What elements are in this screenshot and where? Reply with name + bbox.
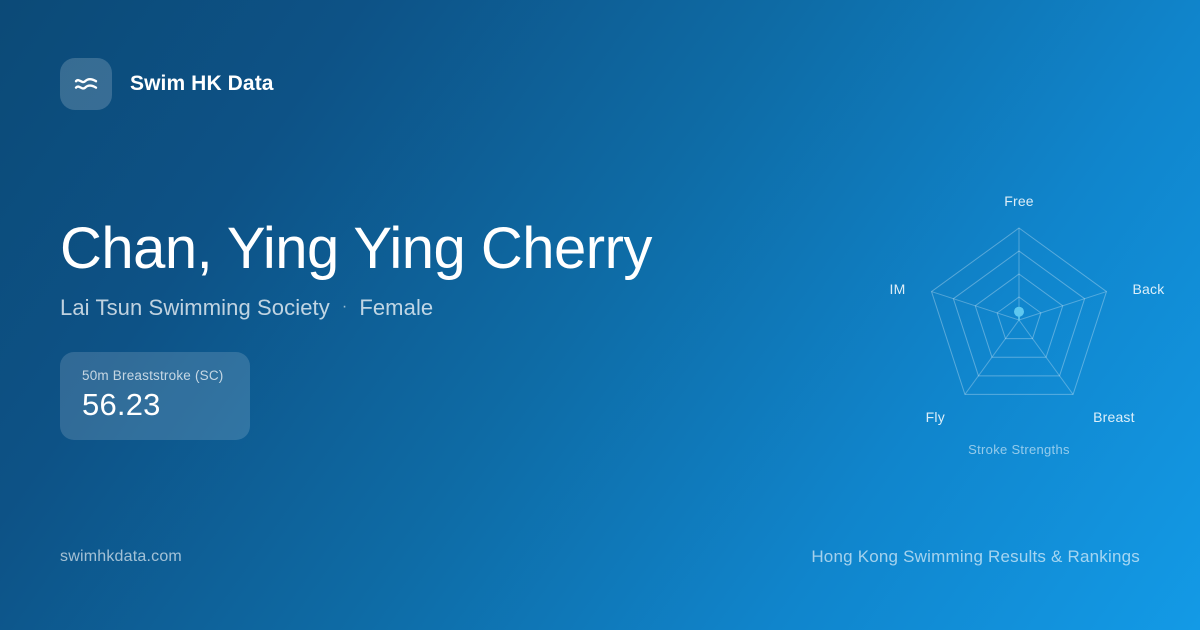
radar-axis-label-fly: Fly [926, 409, 945, 425]
radar-chart-caption: Stroke Strengths [869, 442, 1169, 457]
gender-label: Female [359, 295, 433, 321]
stat-card-label: 50m Breaststroke (SC) [82, 368, 228, 383]
radar-axis-label-breast: Breast [1093, 409, 1135, 425]
brand[interactable]: Swim HK Data [60, 58, 274, 110]
radar-data-point [1014, 307, 1024, 317]
radar-axis-label-free: Free [1004, 193, 1034, 209]
hero-subtitle: Lai Tsun Swimming Society · Female [60, 295, 820, 321]
stat-card[interactable]: 50m Breaststroke (SC) 56.23 [60, 352, 250, 440]
club-name: Lai Tsun Swimming Society [60, 295, 330, 321]
footer-site-url[interactable]: swimhkdata.com [60, 548, 182, 566]
stat-card-value: 56.23 [82, 389, 228, 422]
subtitle-separator: · [342, 298, 347, 316]
footer-tagline: Hong Kong Swimming Results & Rankings [811, 547, 1140, 567]
brand-name: Swim HK Data [130, 72, 274, 96]
app-logo [60, 58, 112, 110]
radar-axis-spoke [932, 292, 1020, 320]
hero-block: Chan, Ying Ying Cherry Lai Tsun Swimming… [60, 218, 820, 321]
page-title: Chan, Ying Ying Cherry [60, 218, 820, 281]
stroke-strengths-radar-chart: Free Back Breast Fly IM Stroke Strengths [869, 170, 1169, 470]
wave-icon [71, 69, 101, 99]
radar-axis-label-im: IM [890, 281, 906, 297]
radar-axis-spoke [1019, 292, 1107, 320]
radar-axis-label-back: Back [1132, 281, 1164, 297]
